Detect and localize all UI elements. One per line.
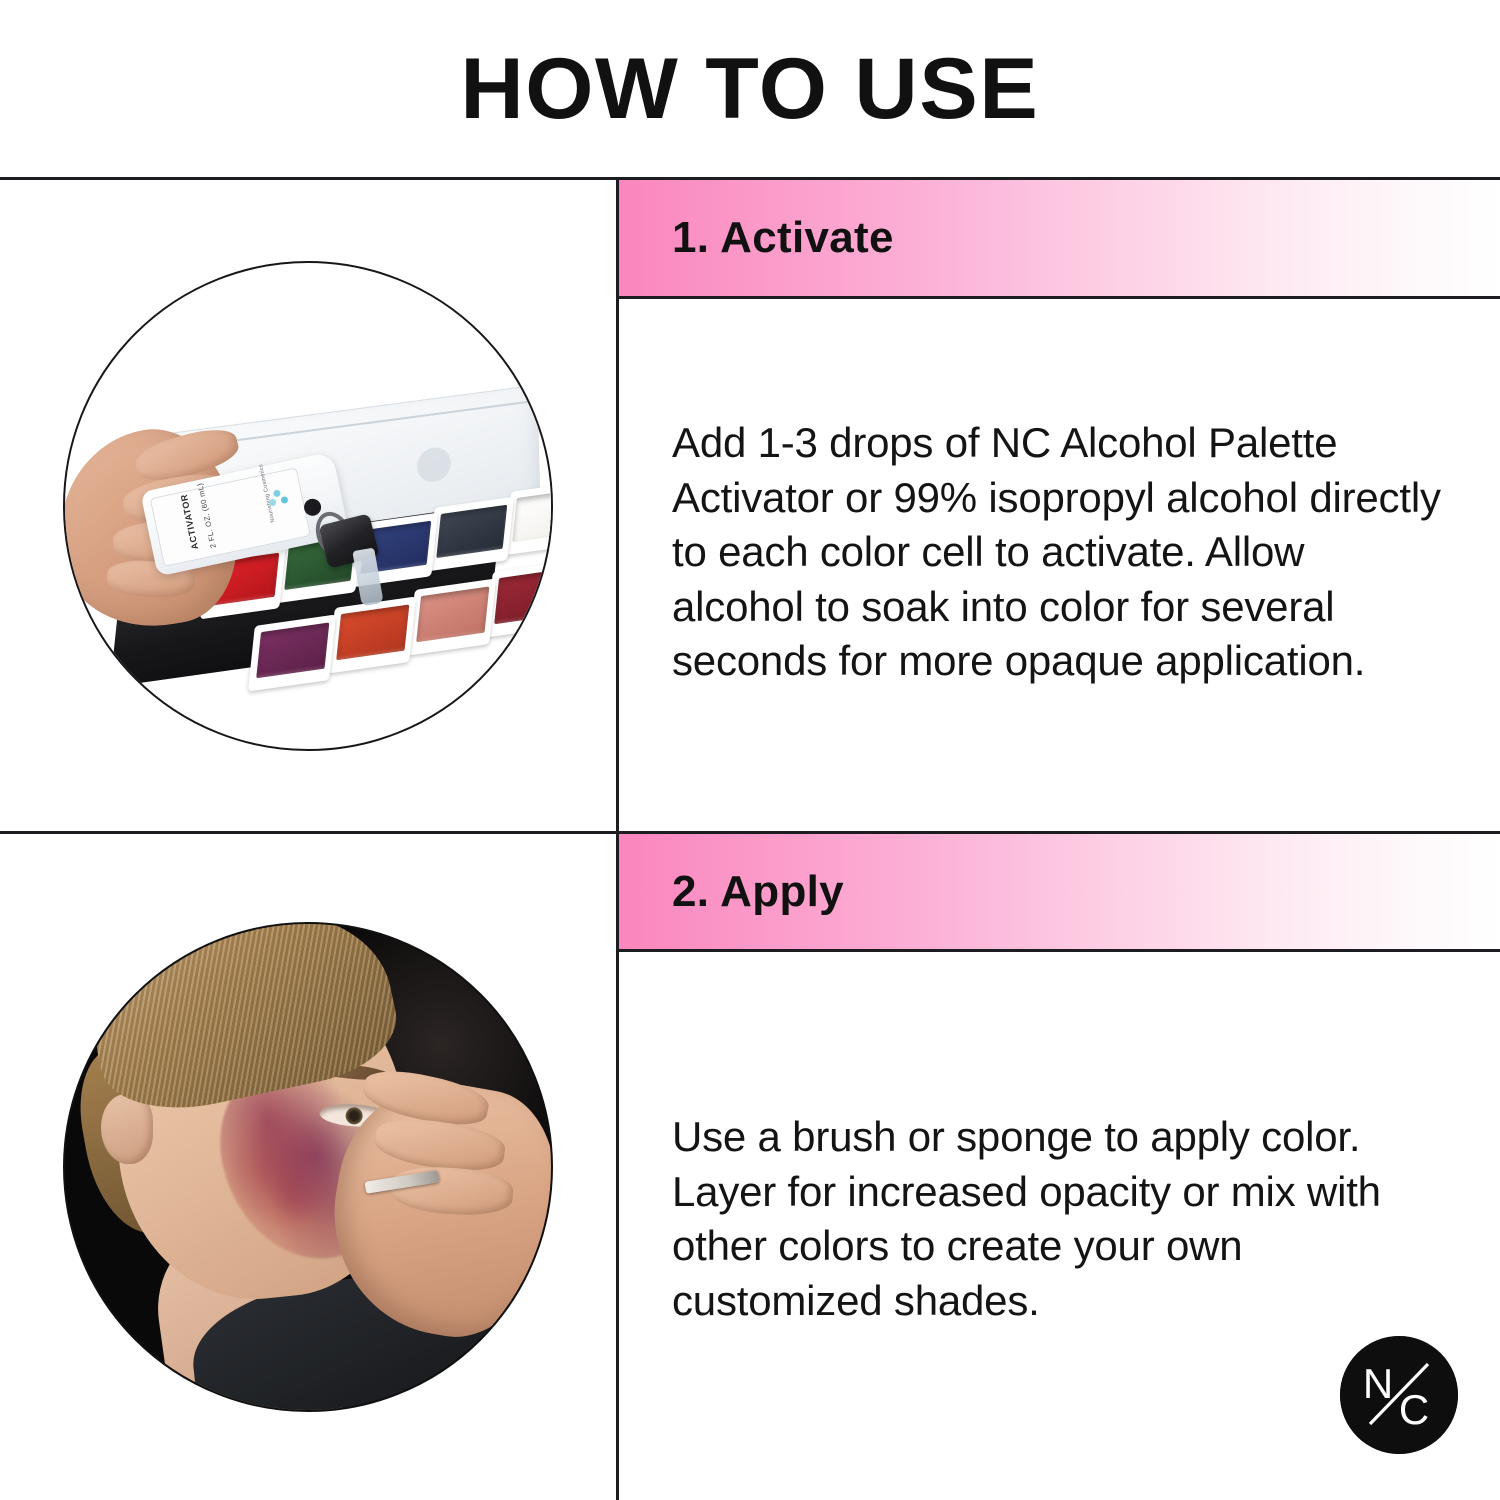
color-pan-slate: [428, 496, 514, 571]
step-row-apply: 2. Apply Use a brush or sponge to apply …: [0, 834, 1500, 1500]
color-pan-orange-red: [328, 596, 416, 673]
step-1-header-band: 1. Activate: [619, 180, 1500, 299]
lid-emblem-icon: [417, 445, 452, 484]
model-scene: [65, 924, 551, 1410]
step-1-photo-cell: ACTIVATOR 2 FL. OZ. (60 mL) Nourishing C…: [0, 180, 616, 831]
nc-brand-logo: N C: [1340, 1336, 1458, 1454]
step-1-title: 1. Activate: [672, 213, 894, 263]
page-title: HOW TO USE: [460, 46, 1039, 132]
logo-letter-n: N: [1363, 1360, 1393, 1407]
model-application-photo: [63, 922, 553, 1412]
step-2-header-band: 2. Apply: [619, 834, 1500, 952]
page-header: HOW TO USE: [0, 0, 1500, 177]
palette-scene: ACTIVATOR 2 FL. OZ. (60 mL) Nourishing C…: [65, 263, 551, 749]
step-2-title: 2. Apply: [672, 867, 844, 917]
logo-letter-c: C: [1399, 1386, 1429, 1433]
color-pan-salmon: [408, 578, 496, 655]
step-1-text-cell: 1. Activate Add 1-3 drops of NC Alcohol …: [616, 180, 1500, 831]
color-pan-purple: [248, 614, 336, 691]
step-2-photo-cell: [0, 834, 616, 1500]
droplets-icon: [267, 487, 291, 511]
model-ear: [101, 1094, 153, 1164]
color-pan-burgundy: [486, 560, 553, 637]
activator-palette-photo: ACTIVATOR 2 FL. OZ. (60 mL) Nourishing C…: [63, 261, 553, 751]
step-2-body-text: Use a brush or sponge to apply color. La…: [672, 1110, 1444, 1328]
step-row-activate: ACTIVATOR 2 FL. OZ. (60 mL) Nourishing C…: [0, 180, 1500, 831]
step-1-body-text: Add 1-3 drops of NC Alcohol Palette Acti…: [672, 416, 1444, 689]
model-iris: [345, 1107, 363, 1125]
